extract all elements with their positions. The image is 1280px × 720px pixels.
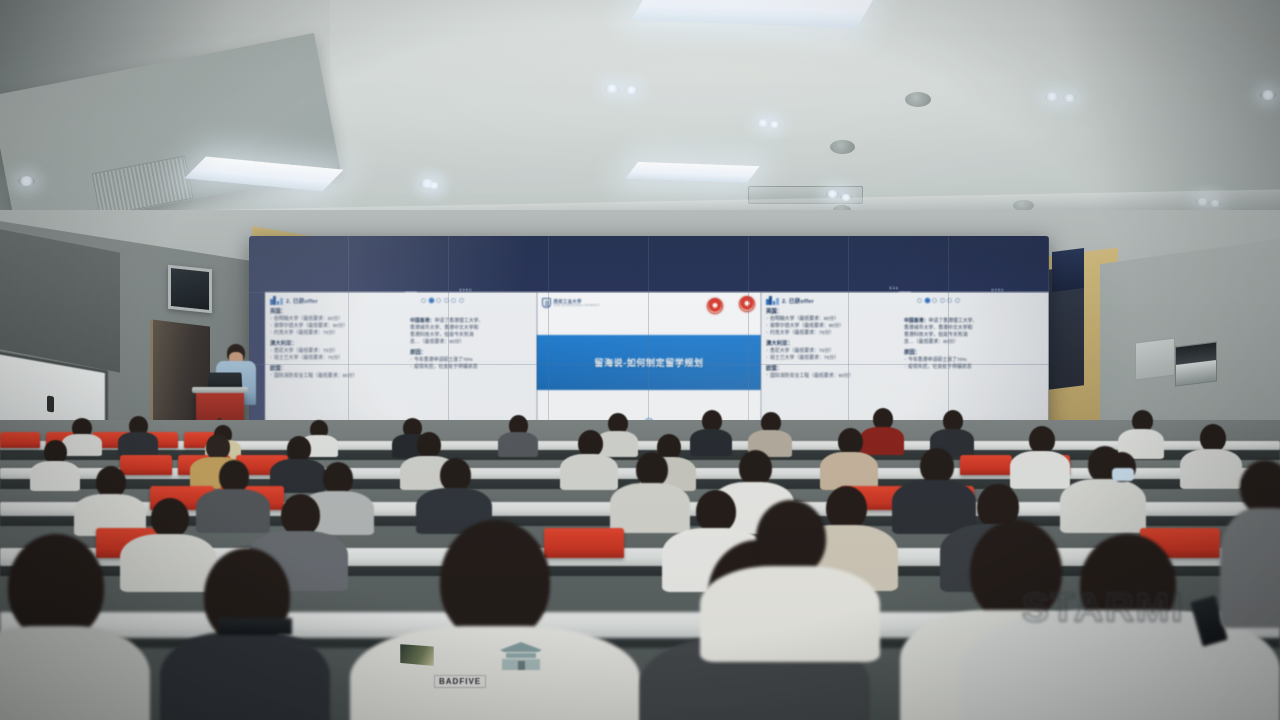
shirt-pagoda-graphic (498, 640, 544, 670)
bar-chart-icon (270, 296, 283, 305)
person-head (417, 432, 441, 458)
list-item: 约克大学（最低要求：75分） (270, 330, 412, 337)
ceiling-downlight (1063, 94, 1076, 102)
badge-number: 5 (714, 304, 716, 309)
list-item: 谢菲尔德大学（最低要求：80分） (270, 323, 412, 330)
ceiling-speaker (905, 92, 931, 107)
ceiling-downlight (18, 176, 35, 186)
audience-member-foreground (0, 534, 150, 720)
person-head (1029, 426, 1055, 454)
person-head (578, 430, 603, 457)
audience-member (498, 415, 538, 453)
ceiling-panel-light (625, 162, 760, 183)
list-item: 悉尼大学（最低要求：75分） (766, 348, 906, 355)
person-torso (30, 461, 80, 491)
slide-header-label: 2. 已获offer (782, 297, 814, 305)
slide-title-band: 留海说-如何制定留学规划 (537, 335, 761, 390)
pagination-dot[interactable] (947, 298, 952, 303)
audience-member (30, 440, 80, 486)
person-torso (0, 626, 150, 720)
anniversary-badge-icon: 5 (739, 296, 755, 312)
ceiling-downlight (1260, 90, 1276, 100)
reason-item: 疫情失控，社会处于停摆状态 (410, 364, 532, 371)
wall-poster (1175, 341, 1217, 386)
person-torso (820, 452, 878, 490)
audience-member (690, 410, 732, 452)
audience-member-masked (1090, 452, 1150, 496)
region-lead-text: 申请了香港理工大学、 (434, 319, 483, 324)
group-heading: 澳大利亚： (766, 339, 906, 347)
group-heading: 英国： (766, 307, 906, 315)
face-mask (1112, 468, 1134, 481)
list-item: 悉尼大学（最低要求：75分） (270, 348, 412, 355)
audience-member-foreground (350, 520, 640, 720)
wall-monitor (168, 265, 212, 314)
pagination-dot[interactable] (940, 298, 945, 303)
person-head (440, 458, 471, 492)
pagination-dot[interactable] (436, 298, 441, 303)
whiteboard-marker (47, 395, 54, 412)
region-lead: 中国香港：申请了香港理工大学、 (410, 318, 532, 325)
shirt-starman-text: STARMI (1022, 586, 1184, 631)
list-item: 约克大学（最低要求：75分） (766, 330, 906, 337)
panel-caption: 留海说 (889, 286, 899, 290)
ceiling-downlight (1045, 92, 1059, 101)
person-torso (700, 566, 880, 662)
person-torso (1220, 508, 1280, 628)
audience-member (748, 412, 792, 454)
wall-control-panel[interactable] (1135, 338, 1175, 381)
list-item: 昆士兰大学（最低要求：75分） (270, 355, 412, 362)
region-line: 息…（最低要求：80分） (904, 339, 1044, 346)
ceiling-downlight (769, 121, 780, 128)
ceiling-downlight (826, 190, 839, 198)
reason-heading: 原因： (410, 348, 532, 356)
led-panel-seam-h (249, 364, 1049, 365)
slide-title-topbar: 西安工业大学 XI'AN TECHNOLOGICAL UNIVERSITY 5 (537, 292, 761, 332)
shirt-badfive-label: BADFIVE (434, 675, 486, 688)
audience-member (1220, 460, 1280, 640)
person-torso (118, 432, 158, 456)
ceiling-downlight (757, 119, 769, 127)
person-head (920, 448, 954, 484)
ceiling-downlight (605, 84, 619, 93)
group-heading: 英国： (270, 307, 412, 315)
list-item: 国际消防安全工程（最低要求：80分） (270, 373, 412, 380)
right-wall-dark-panel (1052, 248, 1084, 292)
smartphone-on-desk[interactable] (218, 618, 292, 635)
region-lead: 中国香港：申请了香港理工大学、 (904, 318, 1044, 325)
person-torso (498, 432, 538, 457)
slide-header-label: 2. 已获offer (286, 297, 318, 305)
pagination-dot[interactable] (451, 298, 456, 303)
reason-heading: 原因： (904, 348, 1044, 356)
slide-header: 2. 已获offer (270, 296, 412, 305)
person-head (8, 534, 104, 640)
left-wall-dark-panel (0, 227, 120, 372)
region-line: 息…（最低要求：80分） (410, 339, 532, 346)
led-panel-seam-h (249, 292, 1049, 293)
anniversary-badge-icon: 5 (707, 298, 723, 314)
person-head (440, 520, 550, 642)
person-head (1200, 424, 1226, 452)
pagination-dot[interactable] (444, 298, 449, 303)
person-head (281, 494, 320, 536)
pagination-dot[interactable] (421, 298, 426, 303)
bar-chart-icon (766, 296, 779, 305)
region-line: 香港城市大学、香港中文大学和 (904, 325, 1044, 332)
person-head (838, 428, 863, 455)
region-label: 中国香港： (904, 319, 928, 324)
university-logo-sub: XI'AN TECHNOLOGICAL UNIVERSITY (554, 305, 600, 307)
person-head (636, 452, 668, 487)
list-item: 谢菲尔德大学（最低要求：80分） (766, 323, 906, 330)
list-item: 昆士兰大学（最低要求：75分） (766, 355, 906, 362)
group-heading: 澳大利亚： (270, 339, 412, 347)
person-head (756, 500, 826, 576)
audience-member (118, 416, 158, 452)
pagination-dot[interactable] (459, 298, 464, 303)
ceiling-panel-light (631, 0, 878, 28)
university-crest-icon (542, 298, 551, 308)
person-torso (160, 632, 330, 720)
pagination-dot-active[interactable] (925, 298, 930, 303)
audience-member (820, 428, 878, 486)
shirt-flag-graphic (400, 644, 434, 666)
person-head (151, 498, 189, 538)
ceiling-speaker (830, 140, 855, 154)
ceiling-downlight (428, 182, 440, 189)
pagination-dot[interactable] (955, 298, 960, 303)
slide-title-heading: 留海说-如何制定留学规划 (594, 356, 703, 369)
slide-header: 2. 已获offer (766, 296, 906, 305)
region-line: 香港科技大学，但是今天有消 (904, 332, 1044, 339)
list-item: 国际消防安全工程（最低要求：80分） (766, 373, 906, 380)
region-lead-text: 申请了香港理工大学、 (928, 319, 977, 324)
region-line: 香港科技大学，但是今天有消 (410, 332, 532, 339)
slide-pagination[interactable] (421, 298, 464, 303)
person-head (1240, 460, 1280, 514)
person-torso (350, 626, 640, 720)
slide-pagination[interactable] (917, 298, 960, 303)
audience-member (416, 458, 492, 528)
lecture-hall-photo: 2. 已获offer 英国： 伯明翰大学（最低要求：80分） 谢菲尔德大学（最低… (0, 0, 1280, 720)
lectern-top (192, 387, 248, 393)
list-item: 伯明翰大学（最低要求：80分） (270, 316, 412, 323)
university-logo: 西安工业大学 XI'AN TECHNOLOGICAL UNIVERSITY (542, 298, 600, 308)
region-label: 中国香港： (410, 319, 434, 324)
region-line: 香港城市大学、香港中文大学和 (410, 325, 532, 332)
audience-member (700, 500, 880, 650)
pagination-dot[interactable] (917, 298, 922, 303)
badge-number: 5 (746, 302, 748, 307)
pagination-dot[interactable] (932, 298, 937, 303)
person-head (739, 450, 772, 486)
pagination-dot-active[interactable] (429, 298, 434, 303)
led-video-wall: 2. 已获offer 英国： 伯明翰大学（最低要求：80分） 谢菲尔德大学（最低… (249, 236, 1049, 436)
reason-item: 疫情失控，社会处于停摆状态 (904, 364, 1044, 371)
ceiling-downlight (625, 86, 638, 94)
list-item: 伯明翰大学（最低要求：80分） (766, 316, 906, 323)
